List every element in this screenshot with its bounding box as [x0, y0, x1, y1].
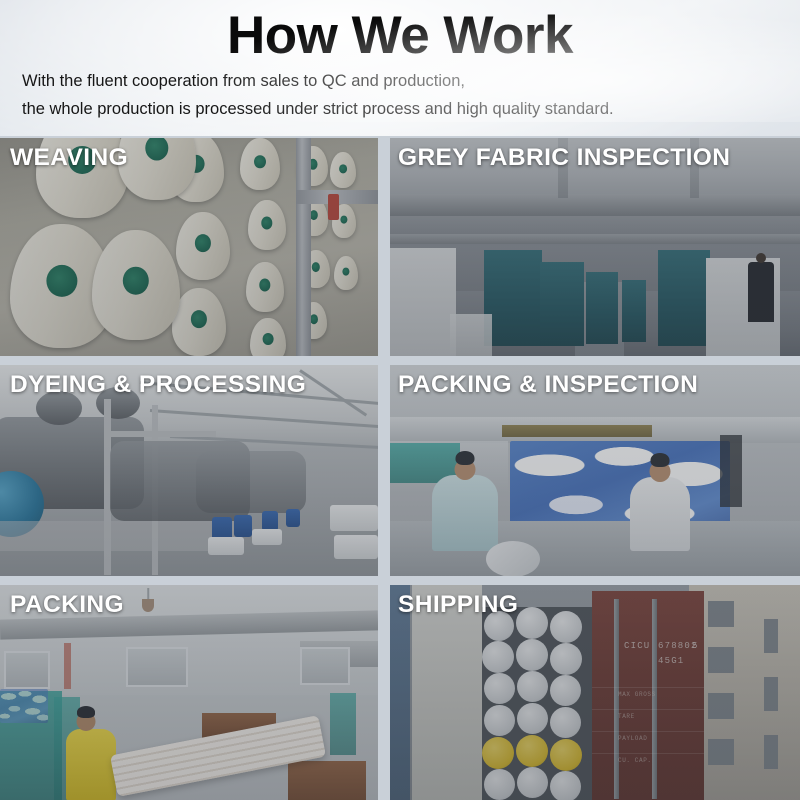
- subtitle-line-1: With the fluent cooperation from sales t…: [22, 72, 465, 91]
- panel-caption-grey-fabric-inspection: GREY FABRIC INSPECTION: [398, 144, 730, 172]
- panel-packing[interactable]: PACKING: [0, 585, 378, 800]
- panel-packing-inspection[interactable]: PACKING & INSPECTION: [390, 365, 800, 576]
- panel-grey-fabric-inspection[interactable]: GREY FABRIC INSPECTION: [390, 138, 800, 356]
- subtitle-line-2: the whole production is processed under …: [22, 100, 614, 119]
- panel-caption-packing: PACKING: [10, 591, 124, 619]
- panel-shipping[interactable]: CICU 678802 5 45G1 MAX GROSS TARE PAYLOA…: [390, 585, 800, 800]
- page-title: How We Work: [0, 8, 800, 64]
- panel-weaving[interactable]: WEAVING: [0, 138, 378, 356]
- panel-caption-shipping: SHIPPING: [398, 591, 518, 619]
- panel-caption-weaving: WEAVING: [10, 144, 128, 172]
- process-grid: WEAVING: [0, 138, 800, 800]
- panel-dyeing-processing[interactable]: DYEING & PROCESSING: [0, 365, 378, 576]
- how-we-work-page: How We Work With the fluent cooperation …: [0, 0, 800, 800]
- panel-caption-packing-inspection: PACKING & INSPECTION: [398, 371, 698, 399]
- page-header: How We Work With the fluent cooperation …: [0, 0, 800, 136]
- panel-caption-dyeing-processing: DYEING & PROCESSING: [10, 371, 306, 399]
